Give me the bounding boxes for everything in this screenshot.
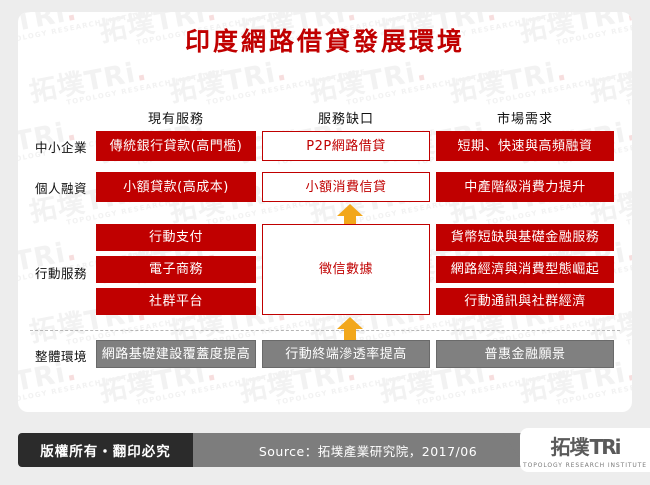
cell-sme-gap: P2P網路借貸 <box>262 131 430 161</box>
tri-logo-mark: 拓墣TRi <box>551 431 620 460</box>
row-label-environment: 整體環境 <box>26 346 96 365</box>
cell-environment-3: 普惠金融願景 <box>436 340 614 368</box>
cell-mobile-demand-2: 網路經濟與消費型態崛起 <box>436 256 614 283</box>
column-header-existing: 現有服務 <box>96 108 256 127</box>
column-header-demand: 市場需求 <box>436 108 614 127</box>
cell-environment-1: 網路基礎建設覆蓋度提高 <box>96 340 256 368</box>
copyright-label: 版權所有・翻印必究 <box>18 433 193 467</box>
column-header-gap: 服務缺口 <box>262 108 430 127</box>
tri-logo: 拓墣TRi TOPOLOGY RESEARCH INSTITUTE <box>520 428 650 472</box>
slide-root: 拓墣TRi.TOPOLOGY RESEARCH INSTITUTE拓墣TRi.T… <box>0 0 650 485</box>
tri-logo-subtitle: TOPOLOGY RESEARCH INSTITUTE <box>523 462 647 469</box>
cell-mobile-existing-3: 社群平台 <box>96 288 256 315</box>
footer-bar: 版權所有・翻印必究 Source：拓墣產業研究院，2017/06 拓墣TRi T… <box>0 428 650 472</box>
cell-sme-demand: 短期、快速與高頻融資 <box>436 131 614 161</box>
cell-mobile-demand-1: 貨幣短缺與基礎金融服務 <box>436 224 614 251</box>
cell-mobile-existing-1: 行動支付 <box>96 224 256 251</box>
cell-sme-existing: 傳統銀行貸款(高門檻) <box>96 131 256 161</box>
cell-mobile-existing-2: 電子商務 <box>96 256 256 283</box>
environment-divider <box>30 330 620 331</box>
tri-logo-latin: TRi <box>590 435 620 459</box>
source-label: Source：拓墣產業研究院，2017/06 <box>193 433 523 467</box>
cell-personal-demand: 中產階級消費力提升 <box>436 172 614 202</box>
cell-mobile-demand-3: 行動通訊與社群經濟 <box>436 288 614 315</box>
diagram-grid: 現有服務 服務缺口 市場需求 中小企業 傳統銀行貸款(高門檻) P2P網路借貸 … <box>0 0 650 412</box>
tri-logo-cjk: 拓墣 <box>551 431 589 460</box>
cell-personal-existing: 小額貸款(高成本) <box>96 172 256 202</box>
cell-personal-gap: 小額消費信貸 <box>262 172 430 202</box>
row-label-sme: 中小企業 <box>26 137 96 156</box>
row-label-personal: 個人融資 <box>26 178 96 197</box>
cell-environment-2: 行動終端滲透率提高 <box>262 340 430 368</box>
row-label-mobile: 行動服務 <box>26 263 96 282</box>
cell-mobile-gap: 徵信數據 <box>262 224 430 315</box>
